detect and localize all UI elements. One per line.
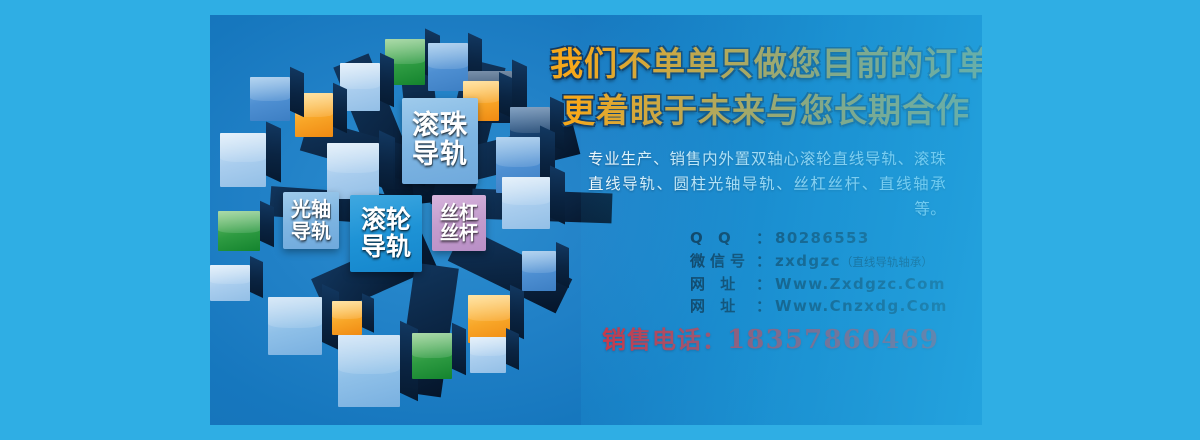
cube-blue [428, 43, 468, 91]
contact-note-wechat: （直线导轨轴承） [841, 254, 933, 271]
contact-value-qq[interactable]: 80286553 [775, 227, 870, 250]
product-box-line1: 滚珠 [412, 112, 468, 141]
product-box-line1: 滚轮 [361, 207, 411, 234]
cube-orange [332, 301, 362, 335]
product-box-line2: 导轨 [412, 141, 468, 170]
cube-light-blue [268, 297, 322, 355]
promo-banner: 光轴 导轨 丝杠 丝杆 滚珠 导轨 滚轮 导轨 我们不单单只做您目前的订单 更着… [210, 15, 982, 425]
contact-label-qq: Q Q [690, 227, 756, 250]
product-box-line2: 导轨 [291, 221, 331, 242]
product-box-gunzhu-daogui[interactable]: 滚珠 导轨 [402, 98, 478, 184]
description-text: 专业生产、销售内外置双轴心滚轮直线导轨、滚珠直线导轨、圆柱光轴导轨、丝杠丝杆、直… [588, 147, 946, 222]
product-box-line1: 丝杠 [440, 203, 478, 223]
product-box-line2: 丝杆 [440, 223, 478, 243]
sales-phone[interactable]: 销售电话：18357860469 [602, 320, 939, 355]
contact-value-wechat[interactable]: zxdgzc [775, 250, 841, 273]
cube-pale [470, 337, 506, 373]
contact-colon: ： [756, 273, 771, 296]
headline: 我们不单单只做您目前的订单 更着眼于未来与您长期合作 [550, 41, 982, 135]
cube-green [218, 211, 260, 251]
sales-phone-label: 销售电话： [602, 326, 727, 354]
product-box-guangzhou-daogui[interactable]: 光轴 导轨 [283, 192, 339, 249]
cube-orange [468, 295, 510, 343]
headline-line-1: 我们不单单只做您目前的订单 [550, 41, 982, 88]
product-box-gunlun-daogui[interactable]: 滚轮 导轨 [350, 195, 422, 272]
banner-content: 我们不单单只做您目前的订单 更着眼于未来与您长期合作 专业生产、销售内外置双轴心… [550, 15, 982, 425]
cube-pale [502, 177, 550, 229]
product-box-line1: 光轴 [291, 199, 331, 220]
contact-value-website-1[interactable]: Www.Zxdgzc.Com [775, 273, 946, 296]
cube-pale [210, 265, 250, 301]
contact-colon: ： [756, 227, 771, 250]
cube-pale [327, 143, 379, 199]
contact-value-website-2[interactable]: Www.Cnzxdg.Com [775, 295, 948, 318]
contact-row-website-1: 网 址 ： Www.Zxdgzc.Com [690, 273, 948, 296]
cube-pale [220, 133, 266, 187]
banner-stage: 光轴 导轨 丝杠 丝杆 滚珠 导轨 滚轮 导轨 我们不单单只做您目前的订单 更着… [0, 0, 1200, 440]
cube-blue [250, 77, 290, 121]
product-box-line2: 导轨 [361, 234, 411, 261]
cube-light-blue [338, 335, 400, 407]
headline-line-2: 更着眼于未来与您长期合作 [550, 88, 982, 135]
contact-row-website-2: 网 址 ： Www.Cnzxdg.Com [690, 295, 948, 318]
contact-row-qq: Q Q ： 80286553 [690, 227, 948, 250]
cube-green [412, 333, 452, 379]
contact-label-website-2: 网 址 [690, 295, 756, 318]
product-box-sigang-sigan[interactable]: 丝杠 丝杆 [432, 195, 486, 251]
contact-colon: ： [756, 250, 771, 273]
contact-label-website-1: 网 址 [690, 273, 756, 296]
sales-phone-number[interactable]: 18357860469 [727, 325, 939, 355]
contact-colon: ： [756, 295, 771, 318]
contact-info: Q Q ： 80286553 微信号 ： zxdgzc （直线导轨轴承） 网 址… [690, 227, 948, 318]
contact-row-wechat: 微信号 ： zxdgzc （直线导轨轴承） [690, 250, 948, 273]
contact-label-wechat: 微信号 [690, 250, 756, 273]
